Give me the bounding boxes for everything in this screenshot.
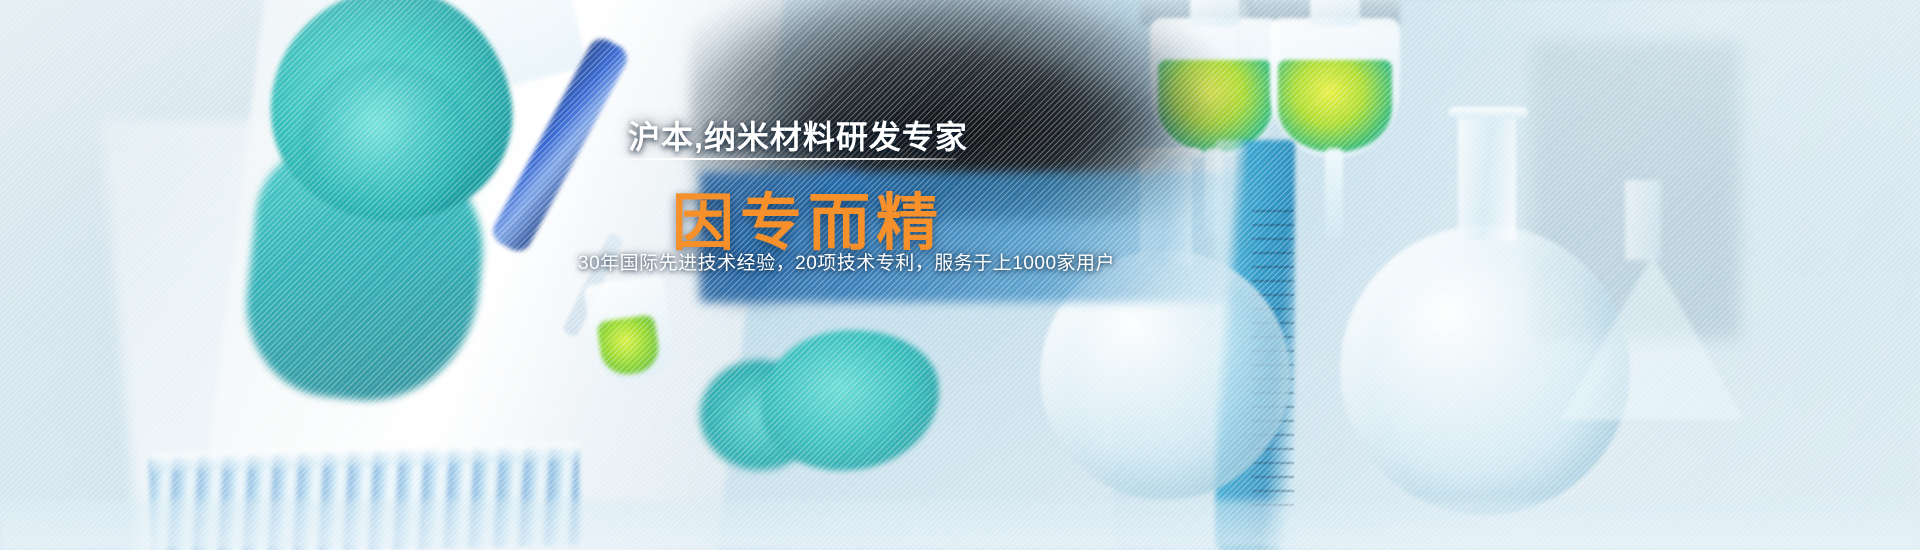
banner-copy: 沪本,纳米材料研发专家 因专而精 30年国际先进技术经验，20项技术专利，服务于…: [0, 0, 1920, 550]
banner-subtitle: 30年国际先进技术经验，20项技术专利，服务于上1000家用户: [578, 248, 1115, 275]
divider-rule: [612, 158, 956, 160]
banner-headline: 沪本,纳米材料研发专家: [628, 112, 968, 158]
hero-banner: 沪本,纳米材料研发专家 因专而精 30年国际先进技术经验，20项技术专利，服务于…: [0, 0, 1920, 550]
